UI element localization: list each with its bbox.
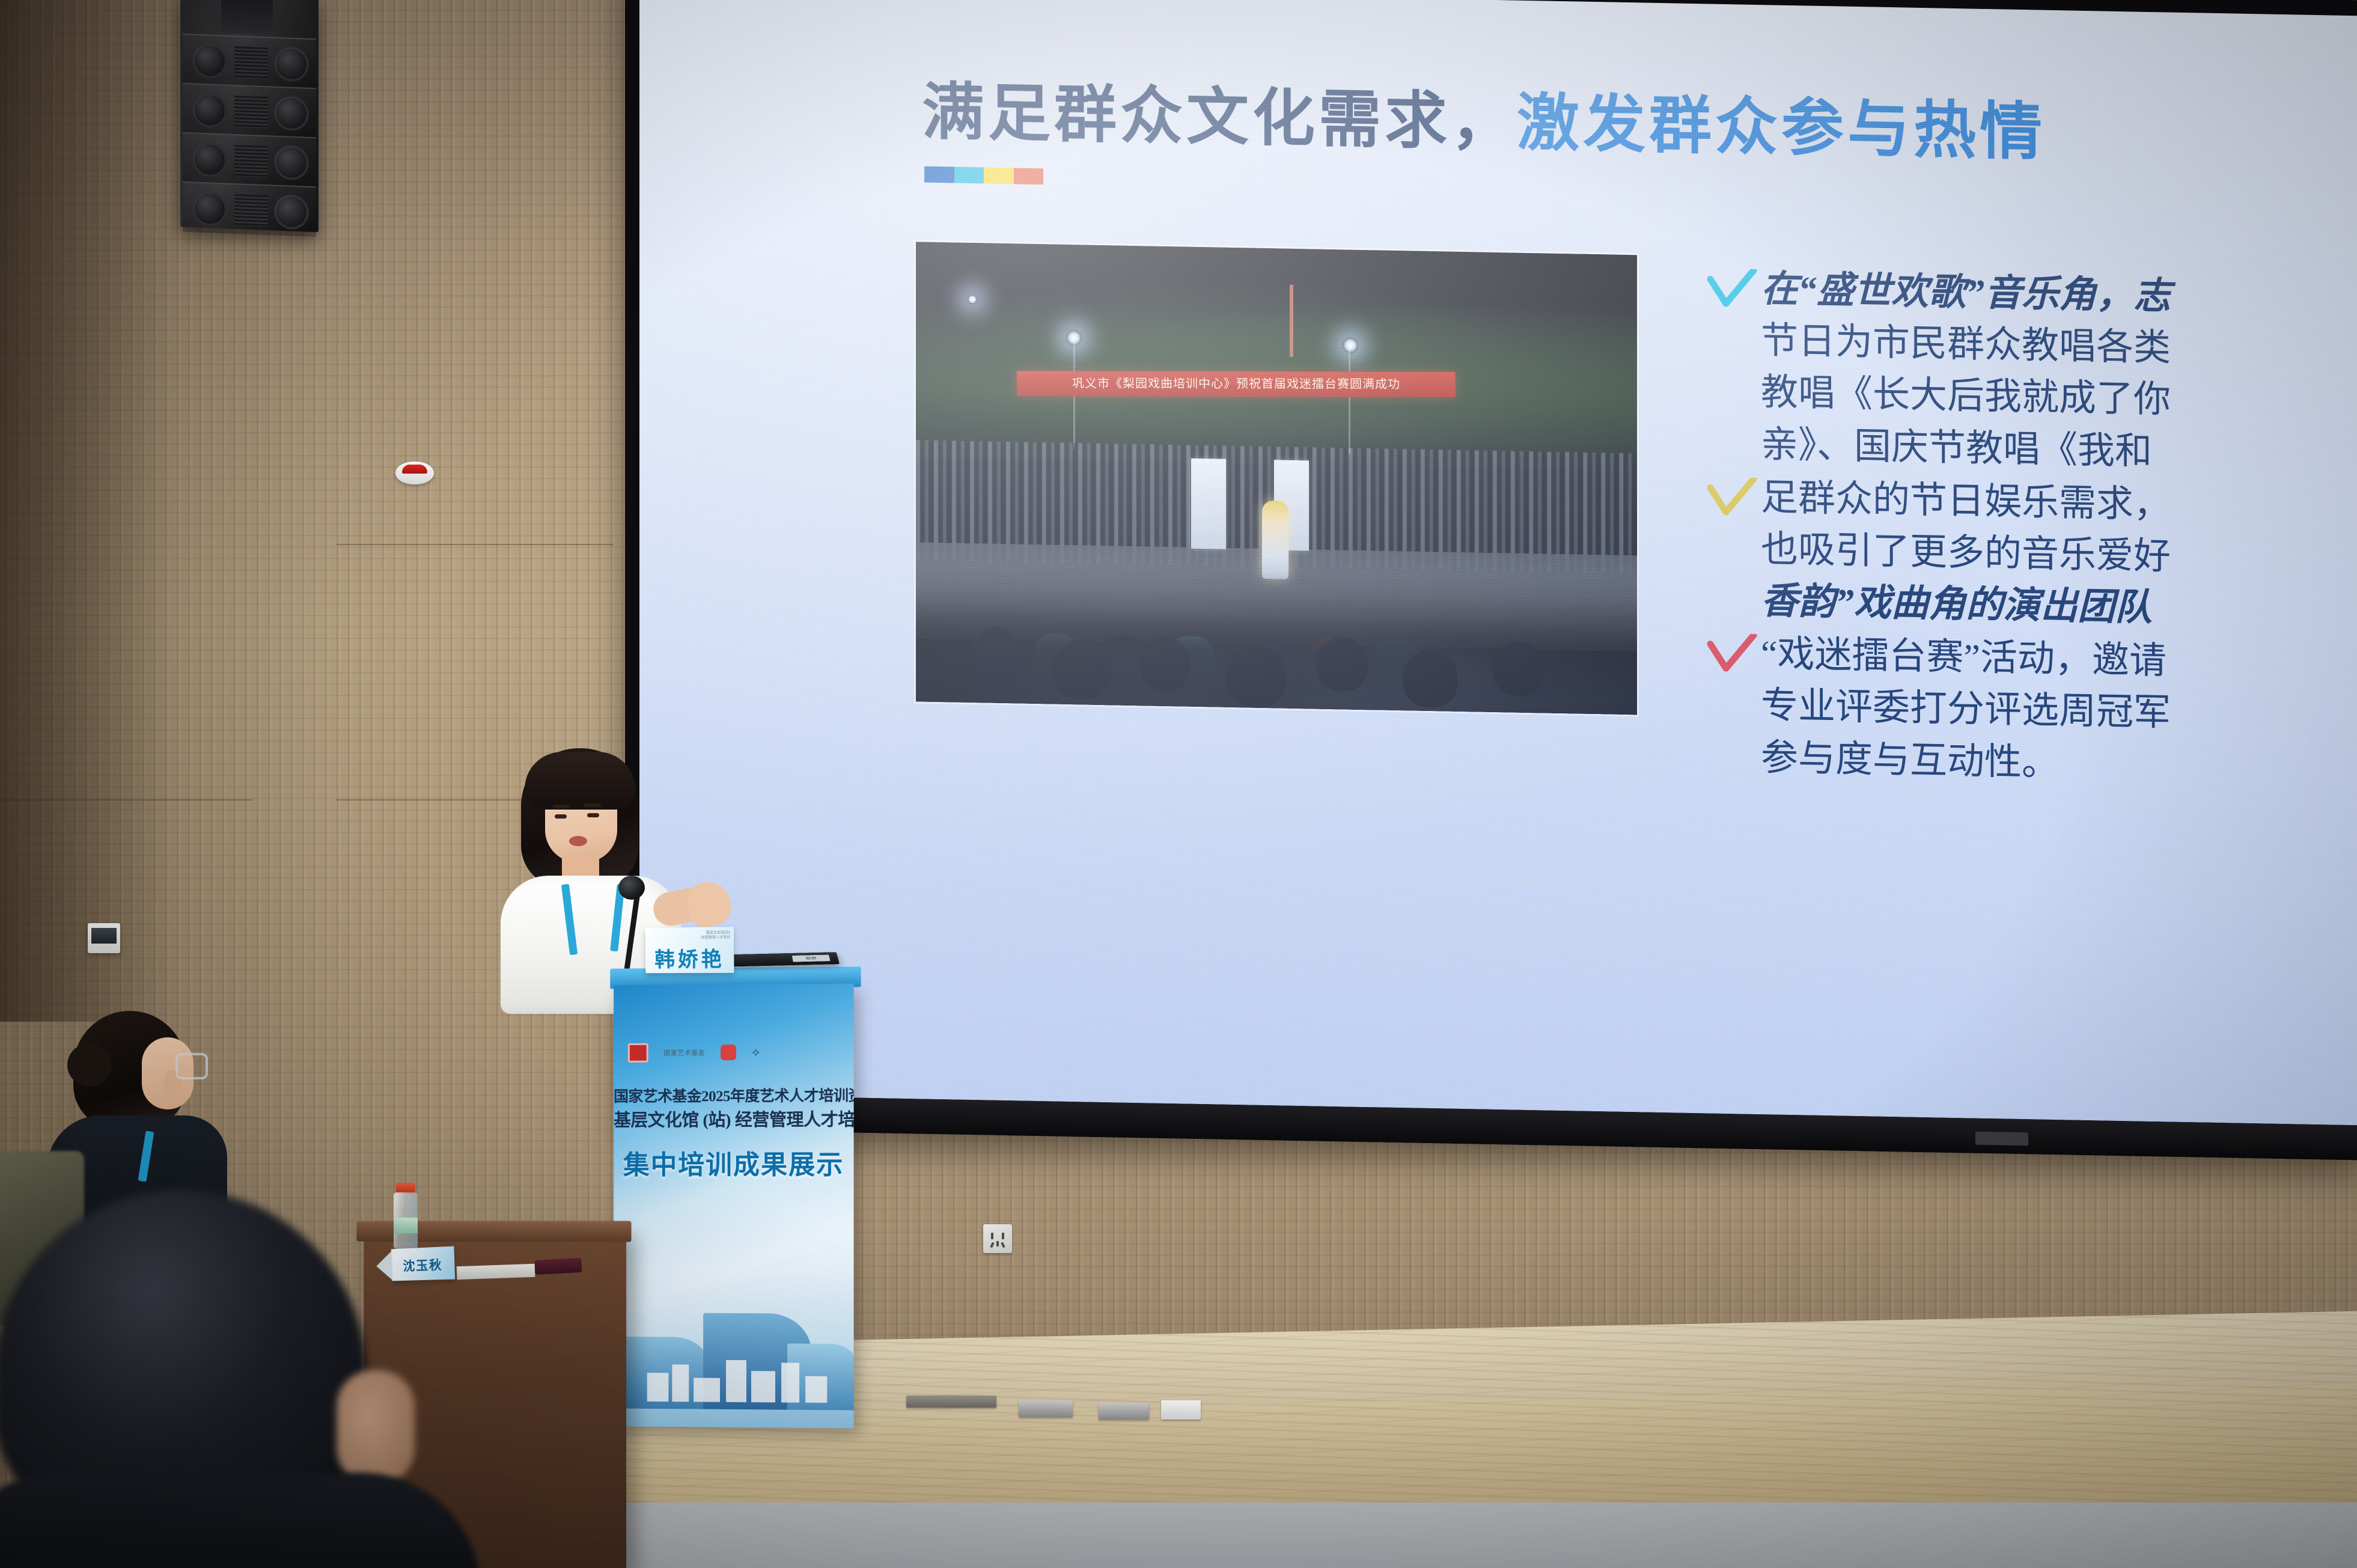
paper-sheet — [457, 1264, 535, 1280]
podium-line-2: 基层文化馆 (站) 经营管理人才培训 — [614, 1105, 853, 1131]
floor-outlet-box — [1161, 1400, 1201, 1420]
podium-banner-panel: 国家艺术基金 ⟡ 国家艺术基金2025年度艺术人才培训资助项目 基层文化馆 (站… — [614, 983, 853, 1428]
slide-title-part2: 激发群众参与热情 — [1517, 89, 2046, 168]
slide-bullet-list: 在“盛世欢歌”音乐角，志 节日为市民群众教唱各类 教唱《长大后我就成了你 亲》、… — [1703, 262, 2357, 797]
slide-photo: 巩义市《梨园戏曲培训中心》预祝首届戏迷擂台赛圆满成功 — [916, 242, 1637, 715]
bullet-line: 参与度与互动性。 — [1761, 732, 2357, 796]
nameplate-subtitle: 基层文化馆(站)经营管理人才培训 — [701, 930, 730, 941]
wall-shadow-left — [0, 0, 174, 1022]
line-array-speaker-icon — [180, 0, 319, 232]
audience-member-foreground — [0, 1190, 433, 1568]
slide-title-part1: 满足群众文化需求， — [922, 78, 1517, 158]
laptop-brand-label: 联想 — [792, 955, 831, 962]
photo-banner: 巩义市《梨园戏曲培训中心》预祝首届戏迷擂台赛圆满成功 — [1017, 371, 1456, 397]
speaker-name: 韩娇艳 — [645, 942, 734, 972]
screen-brand-badge — [1975, 1132, 2028, 1146]
national-arts-fund-logo-icon — [628, 1043, 648, 1063]
check-icon — [1703, 264, 1761, 317]
bullet-item: “戏迷擂台赛”活动，邀请 专业评委打分评选周冠军 参与度与互动性。 — [1703, 627, 2357, 796]
logo-label: 国家艺术基金 — [663, 1048, 705, 1057]
fire-alarm-strobe-icon — [395, 462, 434, 484]
zhejiang-academy-logo-icon: ⟡ — [752, 1045, 760, 1059]
mobile-phone[interactable] — [534, 1258, 582, 1275]
slide-title: 满足群众文化需求，激发群众参与热情 — [922, 61, 2046, 172]
led-display-screen: 满足群众文化需求，激发群众参与热情 巩义市《梨园戏曲培训中心 — [625, 0, 2357, 1161]
bullet-item: 足群众的节日娱乐需求， 也吸引了更多的音乐爱好 香韵”戏曲角的演出团队 — [1703, 471, 2357, 639]
presentation-slide: 满足群众文化需求，激发群众参与热情 巩义市《梨园戏曲培训中心 — [639, 0, 2357, 1125]
speaker-nameplate: 基层文化馆(站)经营管理人才培训 韩娇艳 — [645, 927, 734, 973]
floor-outlet-box — [1019, 1400, 1073, 1417]
glasses-icon — [175, 1053, 208, 1079]
auditorium-presentation-scene: 满足群众文化需求，激发群众参与热情 巩义市《梨园戏曲培训中心 — [0, 0, 2357, 1568]
podium-city-silhouette — [636, 1344, 835, 1403]
floor-outlet-box — [906, 1396, 996, 1408]
photo-banner-text: 巩义市《梨园戏曲培训中心》预祝首届戏迷擂台赛圆满成功 — [1017, 371, 1456, 397]
podium-logo-row: 国家艺术基金 ⟡ — [628, 1039, 839, 1066]
wall-panel-seam — [0, 799, 252, 801]
lectern-podium: 国家艺术基金 ⟡ 国家艺术基金2025年度艺术人才培训资助项目 基层文化馆 (站… — [614, 966, 856, 1428]
podium-line-3: 集中培训成果展示 — [614, 1143, 853, 1182]
wall-thermostat-icon[interactable] — [88, 923, 120, 953]
wall-panel-seam — [337, 544, 613, 545]
presenter-hand — [683, 877, 736, 931]
floor-outlet-box — [1099, 1403, 1149, 1420]
title-accent-rule — [924, 166, 1043, 185]
lottery-fund-logo-icon — [721, 1045, 736, 1060]
check-icon — [1703, 473, 1761, 526]
power-outlet-icon — [983, 1224, 1012, 1253]
microphone-icon — [618, 876, 645, 900]
check-icon — [1703, 630, 1761, 683]
led-panel-surface: 满足群众文化需求，激发群众参与热情 巩义市《梨园戏曲培训中心 — [639, 0, 2357, 1125]
podium-line-1: 国家艺术基金2025年度艺术人才培训资助项目 — [614, 1084, 853, 1106]
bullet-item: 在“盛世欢歌”音乐角，志 节日为市民群众教唱各类 教唱《长大后我就成了你 亲》、… — [1703, 262, 2357, 483]
